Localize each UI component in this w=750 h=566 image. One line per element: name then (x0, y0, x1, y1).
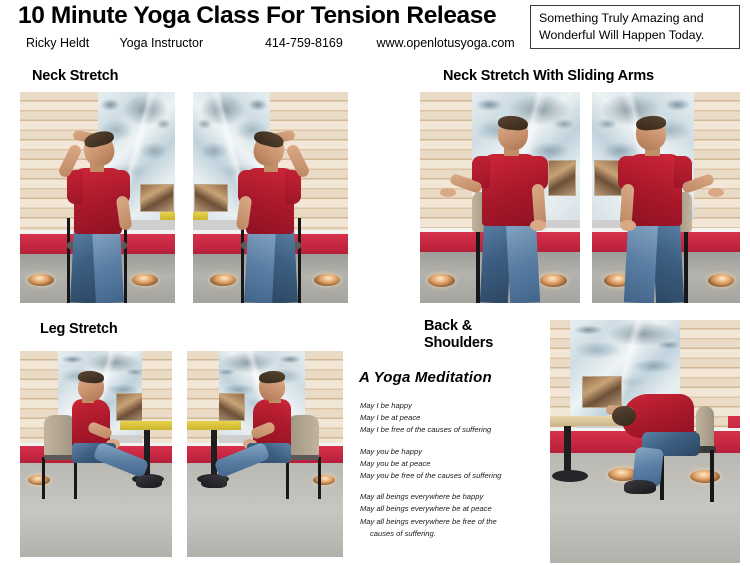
meditation-stanza-2: May you be happy May you be at peace May… (360, 446, 550, 483)
heading-leg-stretch: Leg Stretch (40, 321, 118, 337)
meditation-title: A Yoga Meditation (359, 369, 492, 386)
instructor-name: Ricky Heldt (26, 34, 116, 52)
photo-neck-stretch-right (20, 92, 175, 303)
instructor-website[interactable]: www.openlotusyoga.com (376, 34, 514, 52)
photo-back-shoulders-fold (550, 320, 740, 563)
meditation-line: May I be happy (360, 400, 550, 412)
heading-back-line-2: Shoulders (424, 335, 493, 351)
instructor-role: Yoga Instructor (119, 34, 261, 52)
heading-neck-stretch: Neck Stretch (32, 68, 118, 84)
meditation-line: May all beings everywhere be at peace (360, 503, 550, 515)
meditation-body: May I be happy May I be at peace May I b… (360, 400, 550, 549)
meditation-line: May all beings everywhere be free of the (360, 516, 550, 528)
heading-neck-stretch-sliding-arms: Neck Stretch With Sliding Arms (443, 68, 654, 84)
meditation-line: causes of suffering. (360, 528, 550, 540)
meditation-line: May I be at peace (360, 412, 550, 424)
quote-line-1: Something Truly Amazing and (539, 10, 732, 27)
photo-sliding-arms-left (420, 92, 580, 303)
photo-sliding-arms-right (592, 92, 740, 303)
heading-back-line-1: Back & (424, 318, 472, 334)
instructor-info: Ricky Heldt Yoga Instructor 414-759-8169… (26, 34, 506, 52)
instructor-phone: 414-759-8169 (265, 34, 373, 52)
meditation-line: May all beings everywhere be happy (360, 491, 550, 503)
meditation-line: May you be at peace (360, 458, 550, 470)
page-header: 10 Minute Yoga Class For Tension Release… (0, 0, 750, 58)
meditation-stanza-1: May I be happy May I be at peace May I b… (360, 400, 550, 437)
quote-line-2: Wonderful Will Happen Today. (539, 27, 732, 44)
meditation-line: May you be free of the causes of sufferi… (360, 470, 550, 482)
meditation-line: May I be free of the causes of suffering (360, 424, 550, 436)
meditation-line: May you be happy (360, 446, 550, 458)
page-title: 10 Minute Yoga Class For Tension Release (18, 2, 518, 30)
photo-leg-stretch-left (187, 351, 343, 557)
heading-back-and-shoulders: Back &Shoulders (424, 318, 544, 352)
photo-leg-stretch-right (20, 351, 172, 557)
meditation-stanza-3: May all beings everywhere be happy May a… (360, 491, 550, 540)
quote-box: Something Truly Amazing and Wonderful Wi… (530, 5, 740, 49)
photo-neck-stretch-left (193, 92, 348, 303)
